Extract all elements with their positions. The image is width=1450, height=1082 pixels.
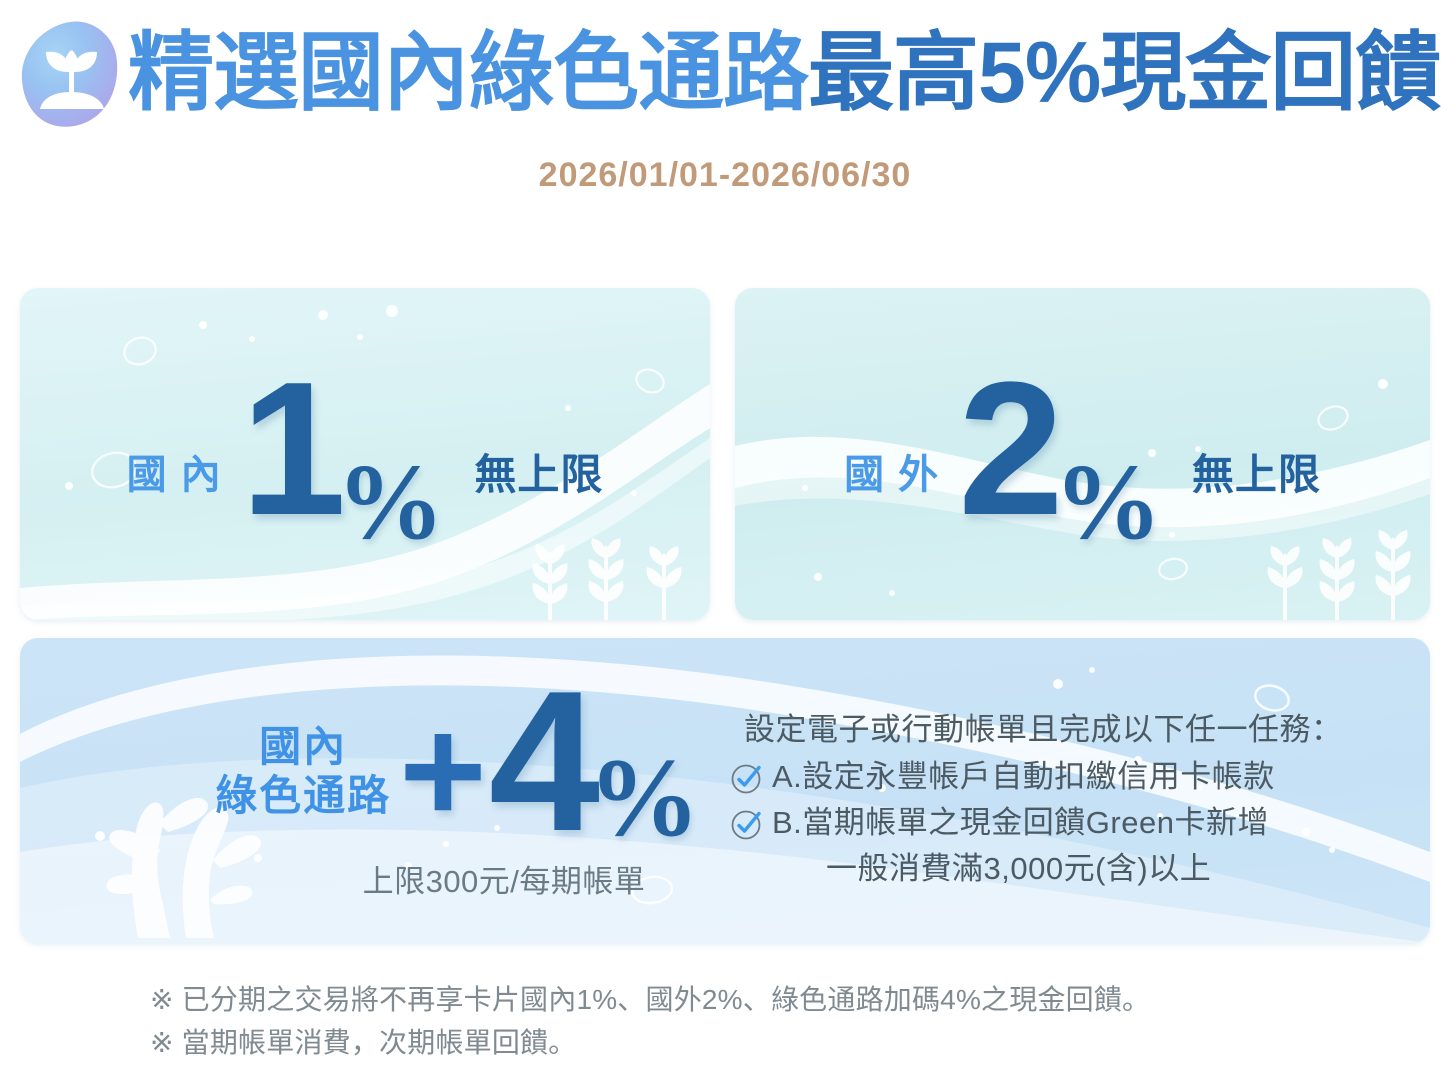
page-title-segment-dark: 最高5%現金回饋 xyxy=(808,30,1440,116)
offer-card-overseas: 國外 2 % 無上限 xyxy=(735,288,1430,620)
offer-cards: 國內 1 % 無上限 xyxy=(20,288,1430,943)
rate-number-domestic: 1 xyxy=(241,368,341,531)
footnotes: ※ 已分期之交易將不再享卡片國內1%、國外2%、綠色通路加碼4%之現金回饋。 ※… xyxy=(150,978,1400,1065)
task-item-a: A.設定永豐帳戶自動扣繳信用卡帳款 xyxy=(730,757,1420,797)
offer-rate-row-overseas: 國外 2 % 無上限 xyxy=(735,288,1430,620)
page-title: 精選國內綠色通路最高5%現金回饋 xyxy=(128,14,1438,132)
page-title-segment-light: 精選國內綠色通路 xyxy=(128,30,808,116)
green-bonus-cap-note: 上限300元/每期帳單 xyxy=(150,856,730,901)
percent-symbol-overseas: % xyxy=(1054,441,1162,565)
rate-number-overseas: 2 xyxy=(958,368,1058,531)
check-circle-icon xyxy=(730,807,764,841)
offer-card-domestic: 國內 1 % 無上限 xyxy=(20,288,710,620)
promo-date-range: 2026/01/01-2026/06/30 xyxy=(0,156,1450,195)
region-label-domestic: 國內 xyxy=(127,442,237,500)
footnote-line-2: ※ 當期帳單消費，次期帳單回饋。 xyxy=(150,1021,1400,1064)
limit-label-domestic: 無上限 xyxy=(474,441,603,502)
green-bonus-task-block: 設定電子或行動帳單且完成以下任一任務： A.設定永豐帳戶自動扣繳信用卡帳款 xyxy=(730,638,1420,943)
limit-label-overseas: 無上限 xyxy=(1192,441,1321,502)
green-bonus-percent-symbol: % xyxy=(588,734,700,863)
green-bonus-region-line2: 綠色通路 xyxy=(215,772,391,821)
check-circle-icon xyxy=(730,761,764,795)
task-item-b-continuation: 一般消費滿3,000元(含)以上 xyxy=(730,849,1420,889)
plus-sign: + xyxy=(399,710,487,830)
task-item-b-label: B.當期帳單之現金回饋Green卡新增 xyxy=(772,803,1269,843)
percent-symbol-domestic: % xyxy=(336,441,444,565)
offer-rate-row-domestic: 國內 1 % 無上限 xyxy=(20,288,710,620)
task-item-a-label: A.設定永豐帳戶自動扣繳信用卡帳款 xyxy=(772,757,1275,797)
sprout-logo-badge xyxy=(18,16,122,132)
task-item-b: B.當期帳單之現金回饋Green卡新增 xyxy=(730,803,1420,843)
green-bonus-rate-block: 國內 綠色通路 + 4 % 上限300元/每期帳單 xyxy=(150,638,730,943)
page-header: 精選國內綠色通路最高5%現金回饋 xyxy=(0,0,1450,150)
task-heading: 設定電子或行動帳單且完成以下任一任務： xyxy=(730,704,1420,749)
region-label-overseas: 國外 xyxy=(844,442,954,500)
offer-card-green-bonus: 國內 綠色通路 + 4 % 上限300元/每期帳單 設定電子或行動帳單且完成以下… xyxy=(20,638,1430,943)
footnote-line-1: ※ 已分期之交易將不再享卡片國內1%、國外2%、綠色通路加碼4%之現金回饋。 xyxy=(150,978,1400,1021)
green-bonus-region-label: 國內 綠色通路 xyxy=(215,723,391,820)
green-bonus-rate-number: 4 xyxy=(489,678,594,846)
green-bonus-region-line1: 國內 xyxy=(215,723,391,772)
